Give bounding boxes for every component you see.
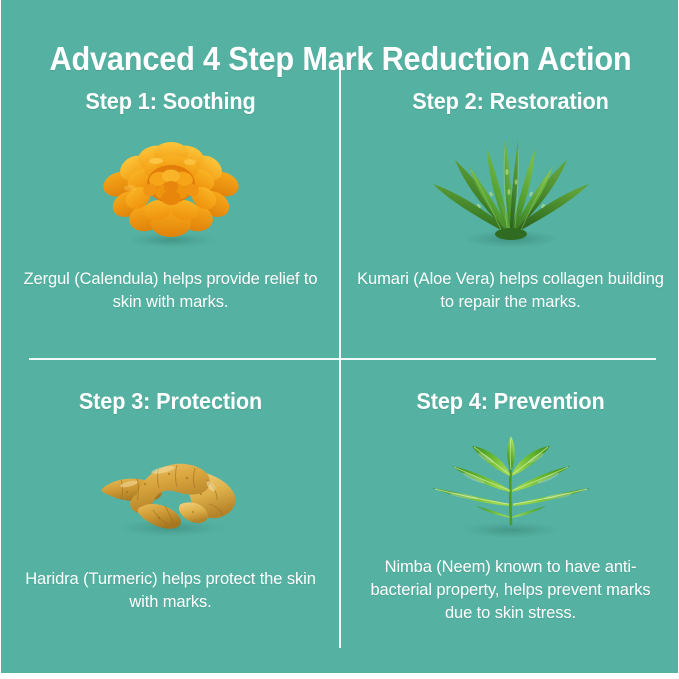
step-panel-1: Step 1: Soothing [1,60,340,380]
step-2-artwork [341,132,679,252]
step-3-artwork [1,432,340,552]
step-panel-4: Step 4: Prevention [341,360,679,679]
step-4-artwork [341,432,679,552]
step-4-description: Nimba (Neem) known to have anti-bacteria… [355,556,666,625]
infographic-canvas: Advanced 4 Step Mark Reduction Action St… [1,0,678,673]
step-3-heading: Step 3: Protection [11,388,330,415]
step-1-heading: Step 1: Soothing [11,88,330,115]
step-panel-2: Step 2: Restoration [341,60,679,380]
step-2-description: Kumari (Aloe Vera) helps collagen buildi… [355,268,666,314]
neem-leaf-sprig-icon [416,432,606,542]
marigold-calendula-flower-icon [86,132,256,250]
step-3-description: Haridra (Turmeric) helps protect the ski… [15,568,326,614]
step-2-heading: Step 2: Restoration [351,88,670,115]
step-1-description: Zergul (Calendula) helps provide relief … [15,268,326,314]
aloe-vera-plant-icon [421,132,601,250]
turmeric-rhizome-roots-icon [81,432,261,542]
step-4-heading: Step 4: Prevention [351,388,670,415]
step-panel-3: Step 3: Protection [1,360,340,679]
step-1-artwork [1,132,340,252]
infographic-root: Advanced 4 Step Mark Reduction Action St… [0,0,679,679]
